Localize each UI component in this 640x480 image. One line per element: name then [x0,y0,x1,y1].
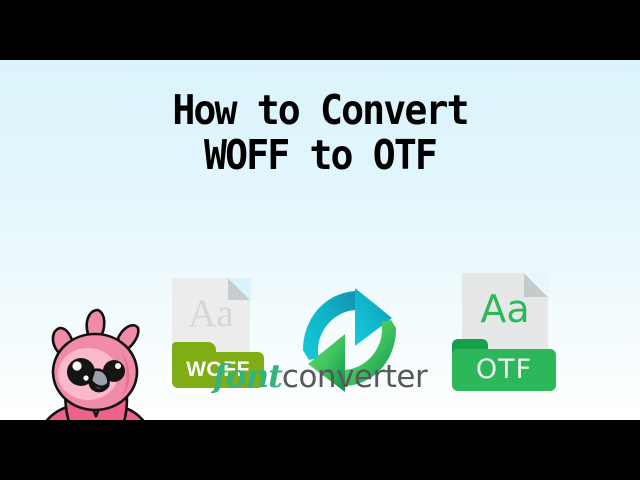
title-line-1: How to Convert [22,86,617,134]
title-line-2: WOFF to OTF [22,131,617,179]
brand-logo-mark: font [213,357,282,395]
brand-logo: fontconverter [0,357,640,395]
letterbox-bar-bottom [0,420,640,480]
slide-canvas: How to Convert WOFF to OTF Aa WOFF [0,60,640,420]
page-title: How to Convert WOFF to OTF [22,86,617,179]
video-frame: How to Convert WOFF to OTF Aa WOFF [0,0,640,480]
otf-sample-text: Aa [462,285,548,333]
woff-sample-text: Aa [172,292,250,336]
brand-logo-word: converter [282,359,427,395]
letterbox-bar-top [0,0,640,60]
